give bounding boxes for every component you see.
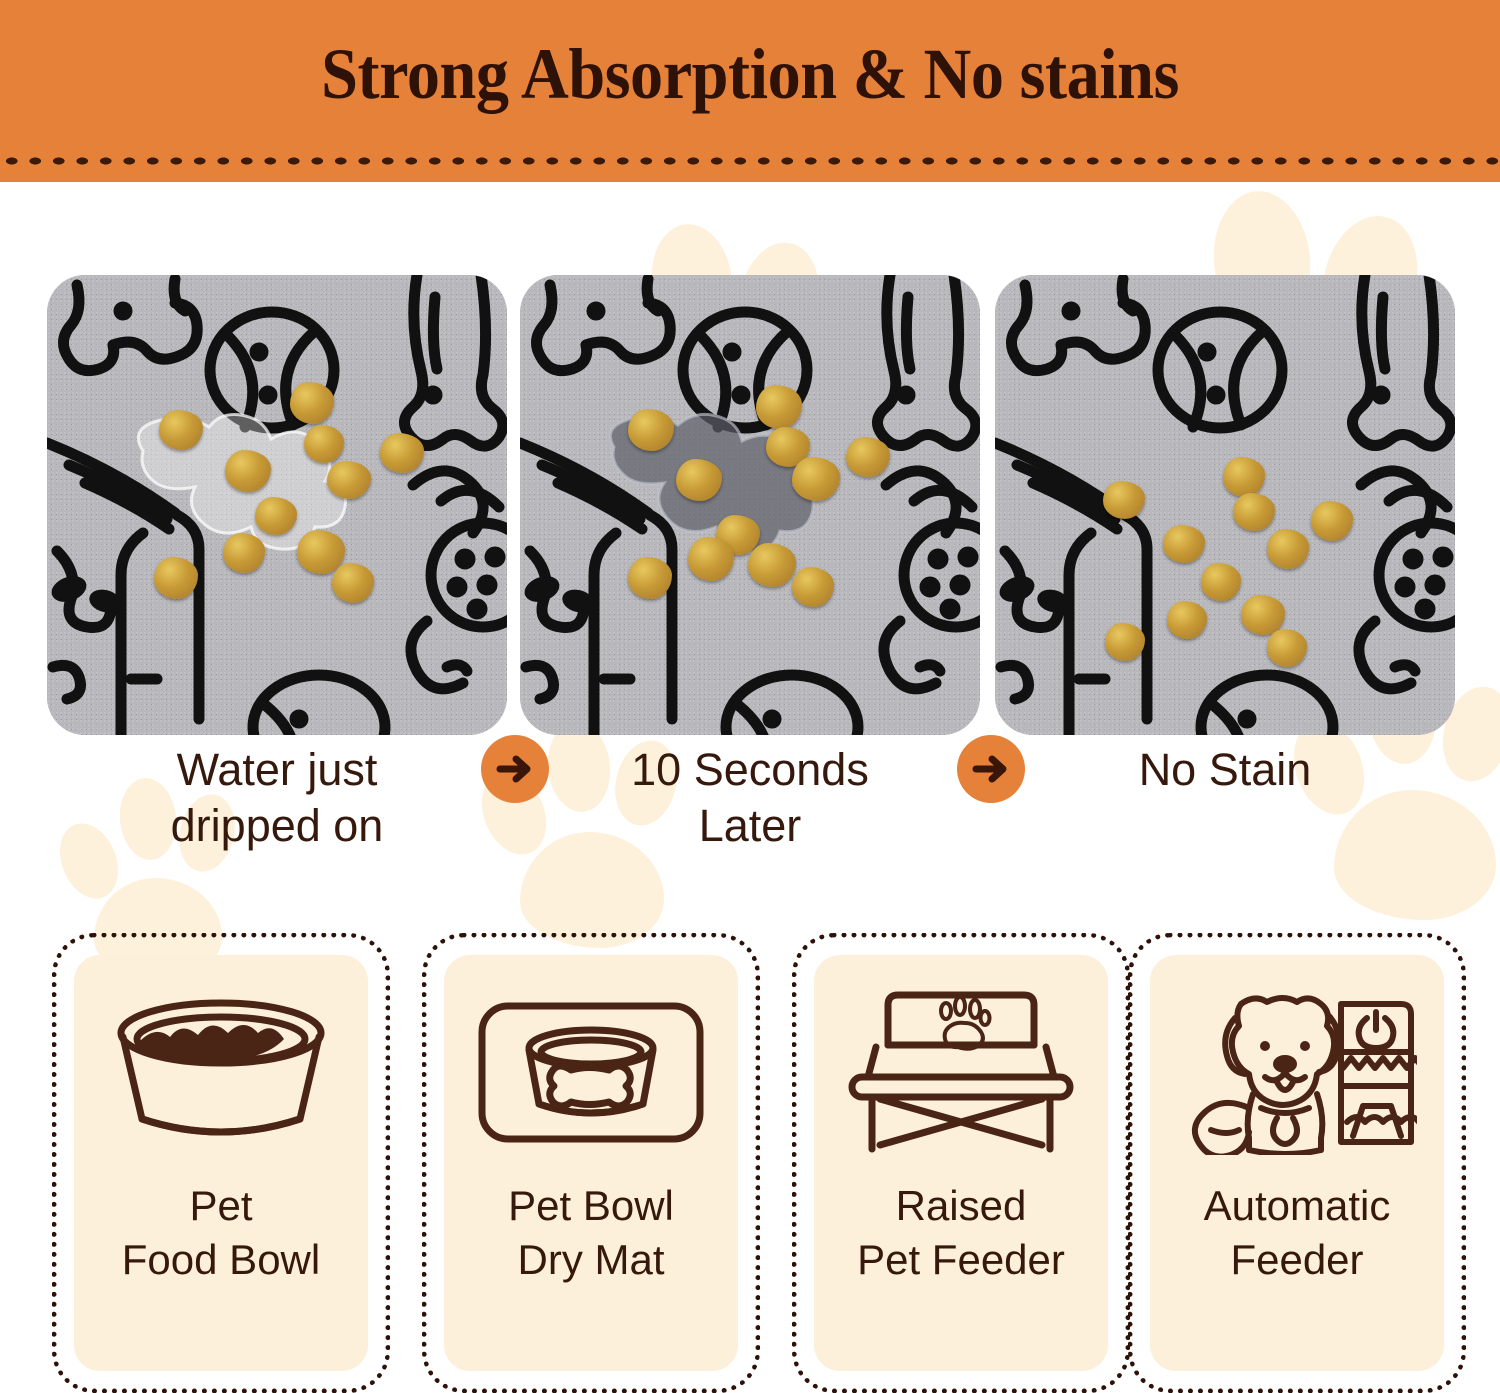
use-case-cards-row: Pet Food Bowl Pet Bowl Dry Mat xyxy=(0,933,1500,1393)
header-banner: Strong Absorption & No stains xyxy=(0,0,1500,182)
card-label-pet-food-bowl: Pet Food Bowl xyxy=(122,1175,320,1287)
caption-no-stain: No Stain xyxy=(995,742,1455,798)
card-label-automatic-feeder: Automatic Feeder xyxy=(1204,1175,1391,1287)
demo-photo-water-dripped xyxy=(47,275,507,735)
bowl-on-mat-icon xyxy=(444,955,738,1175)
page-title: Strong Absorption & No stains xyxy=(60,33,1440,116)
caption-ten-seconds: 10 Seconds Later xyxy=(520,742,980,854)
card-body: Automatic Feeder xyxy=(1150,955,1444,1371)
card-body: Pet Food Bowl xyxy=(74,955,368,1371)
card-label-pet-bowl-dry-mat: Pet Bowl Dry Mat xyxy=(508,1175,674,1287)
absorption-demo-row xyxy=(0,275,1500,735)
use-case-card-raised-pet-feeder[interactable]: Raised Pet Feeder xyxy=(792,933,1130,1393)
demo-photo-ten-seconds-later xyxy=(520,275,980,735)
use-case-card-automatic-feeder[interactable]: Automatic Feeder xyxy=(1128,933,1466,1393)
demo-captions-row: Water just dripped on 10 Seconds Later N… xyxy=(0,742,1500,862)
caption-water-dripped: Water just dripped on xyxy=(47,742,507,854)
kibble-pieces-1 xyxy=(47,275,507,735)
use-case-card-pet-food-bowl[interactable]: Pet Food Bowl xyxy=(52,933,390,1393)
dog-with-auto-feeder-icon xyxy=(1150,955,1444,1175)
card-body: Pet Bowl Dry Mat xyxy=(444,955,738,1371)
card-label-raised-pet-feeder: Raised Pet Feeder xyxy=(857,1175,1065,1287)
demo-photo-no-stain xyxy=(995,275,1455,735)
use-case-card-pet-bowl-dry-mat[interactable]: Pet Bowl Dry Mat xyxy=(422,933,760,1393)
header-dotted-divider xyxy=(0,154,1500,168)
kibble-pieces-3 xyxy=(995,275,1455,735)
dog-bowl-with-food-icon xyxy=(74,955,368,1175)
card-body: Raised Pet Feeder xyxy=(814,955,1108,1371)
raised-feeder-stand-icon xyxy=(814,955,1108,1175)
kibble-pieces-2 xyxy=(520,275,980,735)
